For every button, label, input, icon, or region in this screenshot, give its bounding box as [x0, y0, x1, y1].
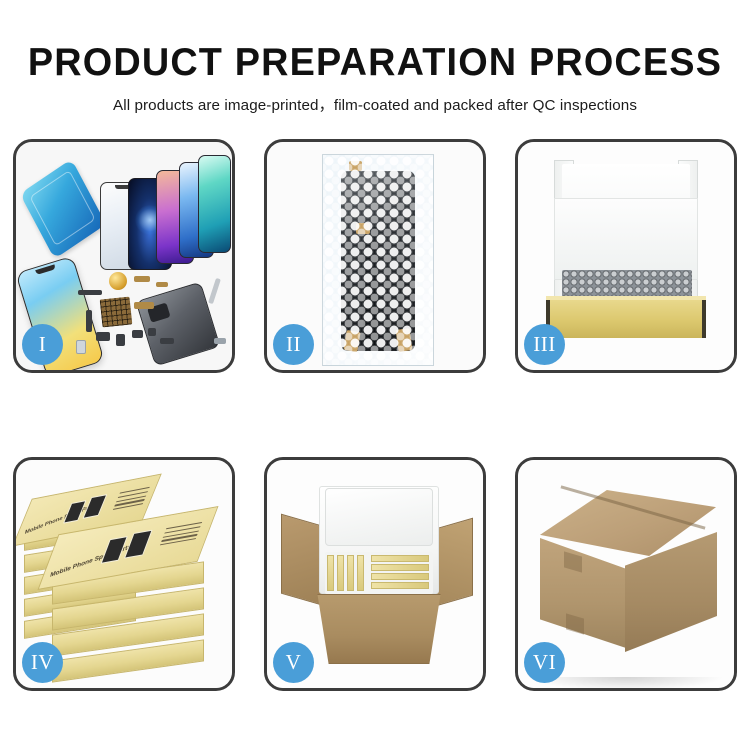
- spare-part-icon: [134, 302, 154, 309]
- box-art-thumbnail: [124, 530, 153, 559]
- inner-box: [371, 582, 429, 589]
- inner-boxes-icon: [325, 552, 433, 594]
- spare-part-icon: [116, 334, 125, 346]
- bubble-texture: [323, 155, 433, 365]
- phone-teal-icon: [198, 155, 231, 253]
- box-spec-lines: [159, 522, 203, 549]
- foam-front-icon: [554, 198, 698, 280]
- inner-box: [371, 555, 429, 562]
- step-badge-6: VI: [524, 642, 565, 683]
- spare-part-icon: [76, 340, 86, 354]
- spare-part-icon: [156, 282, 168, 287]
- process-step-3: III: [515, 139, 737, 373]
- spare-part-icon: [134, 276, 150, 282]
- chip-grid-icon: [100, 297, 133, 328]
- process-step-6: VI: [515, 457, 737, 691]
- page-subtitle: All products are image-printed，film-coat…: [0, 95, 750, 117]
- spare-part-icon: [132, 330, 143, 338]
- inner-box: [371, 564, 429, 571]
- box-spec-lines: [111, 487, 149, 513]
- inner-box: [337, 555, 344, 591]
- process-step-4: Mobile Phone Spare Parts Mobile Phone Sp…: [13, 457, 235, 691]
- step-badge-3: III: [524, 324, 565, 365]
- page-title: PRODUCT PREPARATION PROCESS: [11, 40, 739, 86]
- process-step-1: I: [13, 139, 235, 373]
- step-badge-2: II: [273, 324, 314, 365]
- step-badge-5: V: [273, 642, 314, 683]
- box-art-thumbnail: [82, 494, 107, 519]
- spare-part-icon: [214, 338, 226, 344]
- spare-part-icon: [148, 328, 156, 336]
- gold-component-icon: [109, 272, 127, 290]
- process-step-grid: I II: [13, 139, 737, 691]
- carton-shadow: [528, 677, 724, 688]
- spare-part-icon: [96, 332, 110, 341]
- step-badge-4: IV: [22, 642, 63, 683]
- spare-part-icon: [86, 310, 92, 332]
- foam-lid-icon: [325, 488, 433, 546]
- inner-box: [371, 573, 429, 580]
- process-step-5: V: [264, 457, 486, 691]
- step-badge-1: I: [22, 324, 63, 365]
- inner-box: [347, 555, 354, 591]
- inner-box: [357, 555, 364, 591]
- header: PRODUCT PREPARATION PROCESS All products…: [0, 0, 750, 117]
- inner-box: [327, 555, 334, 591]
- infographic-page: PRODUCT PREPARATION PROCESS All products…: [0, 0, 750, 750]
- spare-part-icon: [160, 338, 174, 344]
- carton-front-icon: [309, 594, 449, 664]
- yellow-box-front-icon: [546, 300, 706, 338]
- process-step-2: II: [264, 139, 486, 373]
- spare-part-icon: [78, 290, 102, 295]
- bubble-bag-icon: [322, 154, 434, 366]
